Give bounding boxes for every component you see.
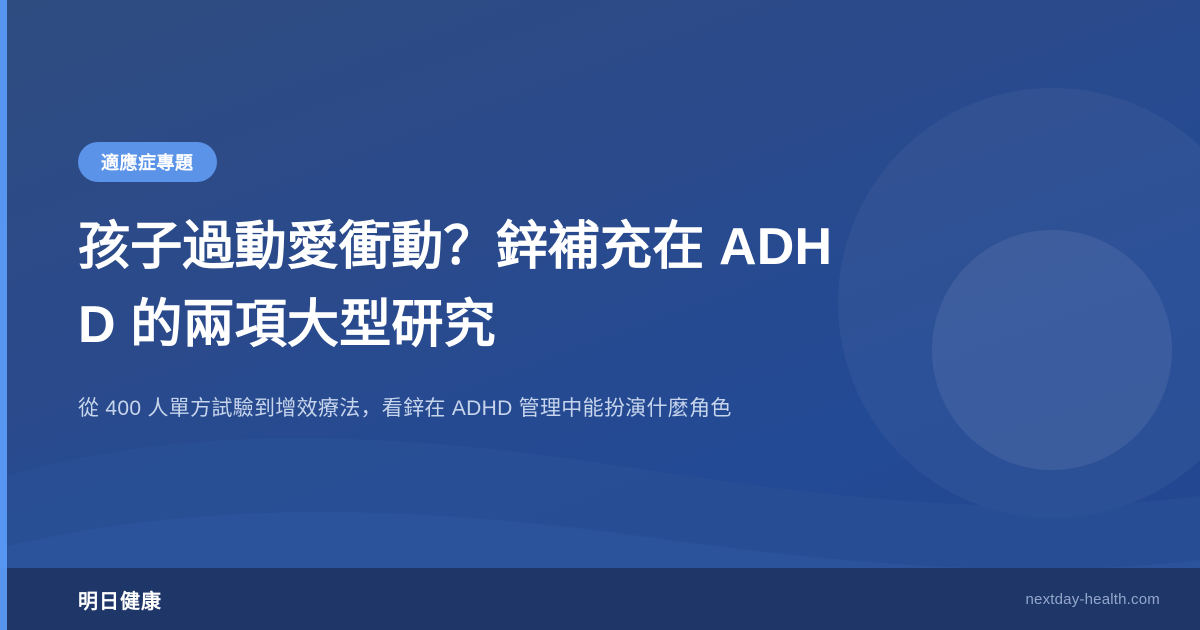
- card-footer: 明日健康 nextday-health.com: [0, 568, 1200, 630]
- page-title: 孩子過動愛衝動？鋅補充在 ADHD 的兩項大型研究: [78, 208, 848, 364]
- brand-name: 明日健康: [78, 585, 162, 614]
- card-content: 適應症專題 孩子過動愛衝動？鋅補充在 ADHD 的兩項大型研究 從 400 人單…: [78, 0, 868, 568]
- decorative-circle-outer: [838, 88, 1200, 518]
- left-accent-bar: [0, 0, 7, 630]
- category-badge[interactable]: 適應症專題: [78, 142, 217, 182]
- og-share-card: 適應症專題 孩子過動愛衝動？鋅補充在 ADHD 的兩項大型研究 從 400 人單…: [0, 0, 1200, 630]
- site-url[interactable]: nextday-health.com: [1025, 591, 1160, 608]
- page-subtitle: 從 400 人單方試驗到增效療法，看鋅在 ADHD 管理中能扮演什麼角色: [78, 392, 868, 426]
- decorative-circle-inner: [932, 230, 1172, 470]
